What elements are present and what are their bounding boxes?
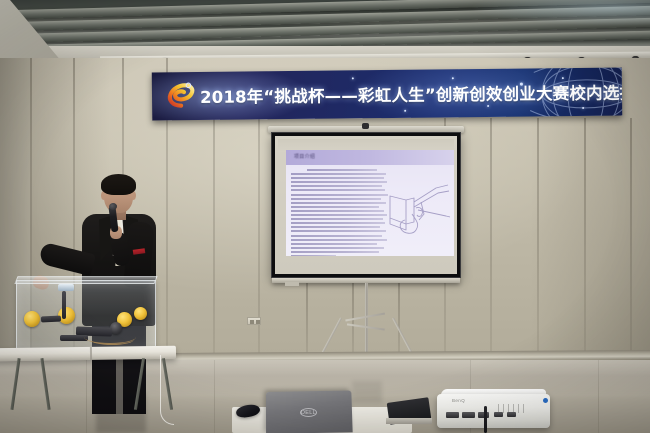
exhibit-table-seam (90, 347, 92, 360)
projector-port (494, 412, 503, 417)
projector-vent (503, 404, 504, 413)
projector-port (446, 412, 459, 418)
projector-vent (523, 404, 524, 413)
wall-panel-seam (490, 118, 492, 358)
presenter-leg-gap (116, 352, 123, 414)
wall-panel-seam (537, 118, 539, 358)
projector-port (507, 412, 516, 417)
projection-screen: 项目介绍 (271, 132, 461, 278)
wall-power-outlet (247, 317, 261, 325)
wall-panel-seam (584, 118, 586, 358)
wall-panel-seam (398, 280, 400, 358)
wall-panel-seam (306, 280, 308, 358)
banner-title: 2018年“挑战杯——彩虹人生”创新创效创业大赛校内选拔赛 (200, 68, 614, 120)
screen-roller-knob (362, 123, 369, 129)
projector-brand-label: BenQ (452, 398, 465, 403)
projector-indicator (543, 398, 548, 403)
prototype-wheel (24, 311, 40, 327)
screen-surface: 项目介绍 (275, 136, 457, 274)
wall-panel-seam (213, 118, 215, 358)
photo-scene: 2018年“挑战杯——彩虹人生”创新创效创业大赛校内选拔赛 项目介绍 (0, 0, 650, 433)
slide-header-title: 项目介绍 (294, 153, 315, 160)
event-banner: 2018年“挑战杯——彩虹人生”创新创效创业大赛校内选拔赛 (152, 68, 622, 121)
projector-vent (518, 404, 519, 413)
exhibit-table-top (0, 346, 176, 362)
projector-port (462, 412, 475, 418)
wall-panel-seam (630, 118, 632, 358)
laptop-brand-logo: DELL (300, 408, 317, 417)
prototype-mechanism (41, 315, 61, 322)
prototype-wheel (134, 307, 147, 320)
equipment-riser-stand (386, 418, 432, 424)
presentation-slide: 项目介绍 (286, 150, 454, 256)
prototype-wiring (90, 334, 134, 345)
technical-line-drawing-icon (388, 180, 450, 238)
slide-body-text (291, 169, 389, 251)
challenge-cup-emblem-icon (166, 80, 196, 110)
presenter-hair (101, 174, 136, 195)
power-cable (160, 355, 174, 425)
prototype-cable-duct (62, 291, 66, 319)
projector-cable (484, 406, 487, 433)
ceiling-light-glow (470, 0, 650, 26)
prototype-motor (58, 284, 74, 291)
screen-pull-tab (285, 282, 299, 286)
